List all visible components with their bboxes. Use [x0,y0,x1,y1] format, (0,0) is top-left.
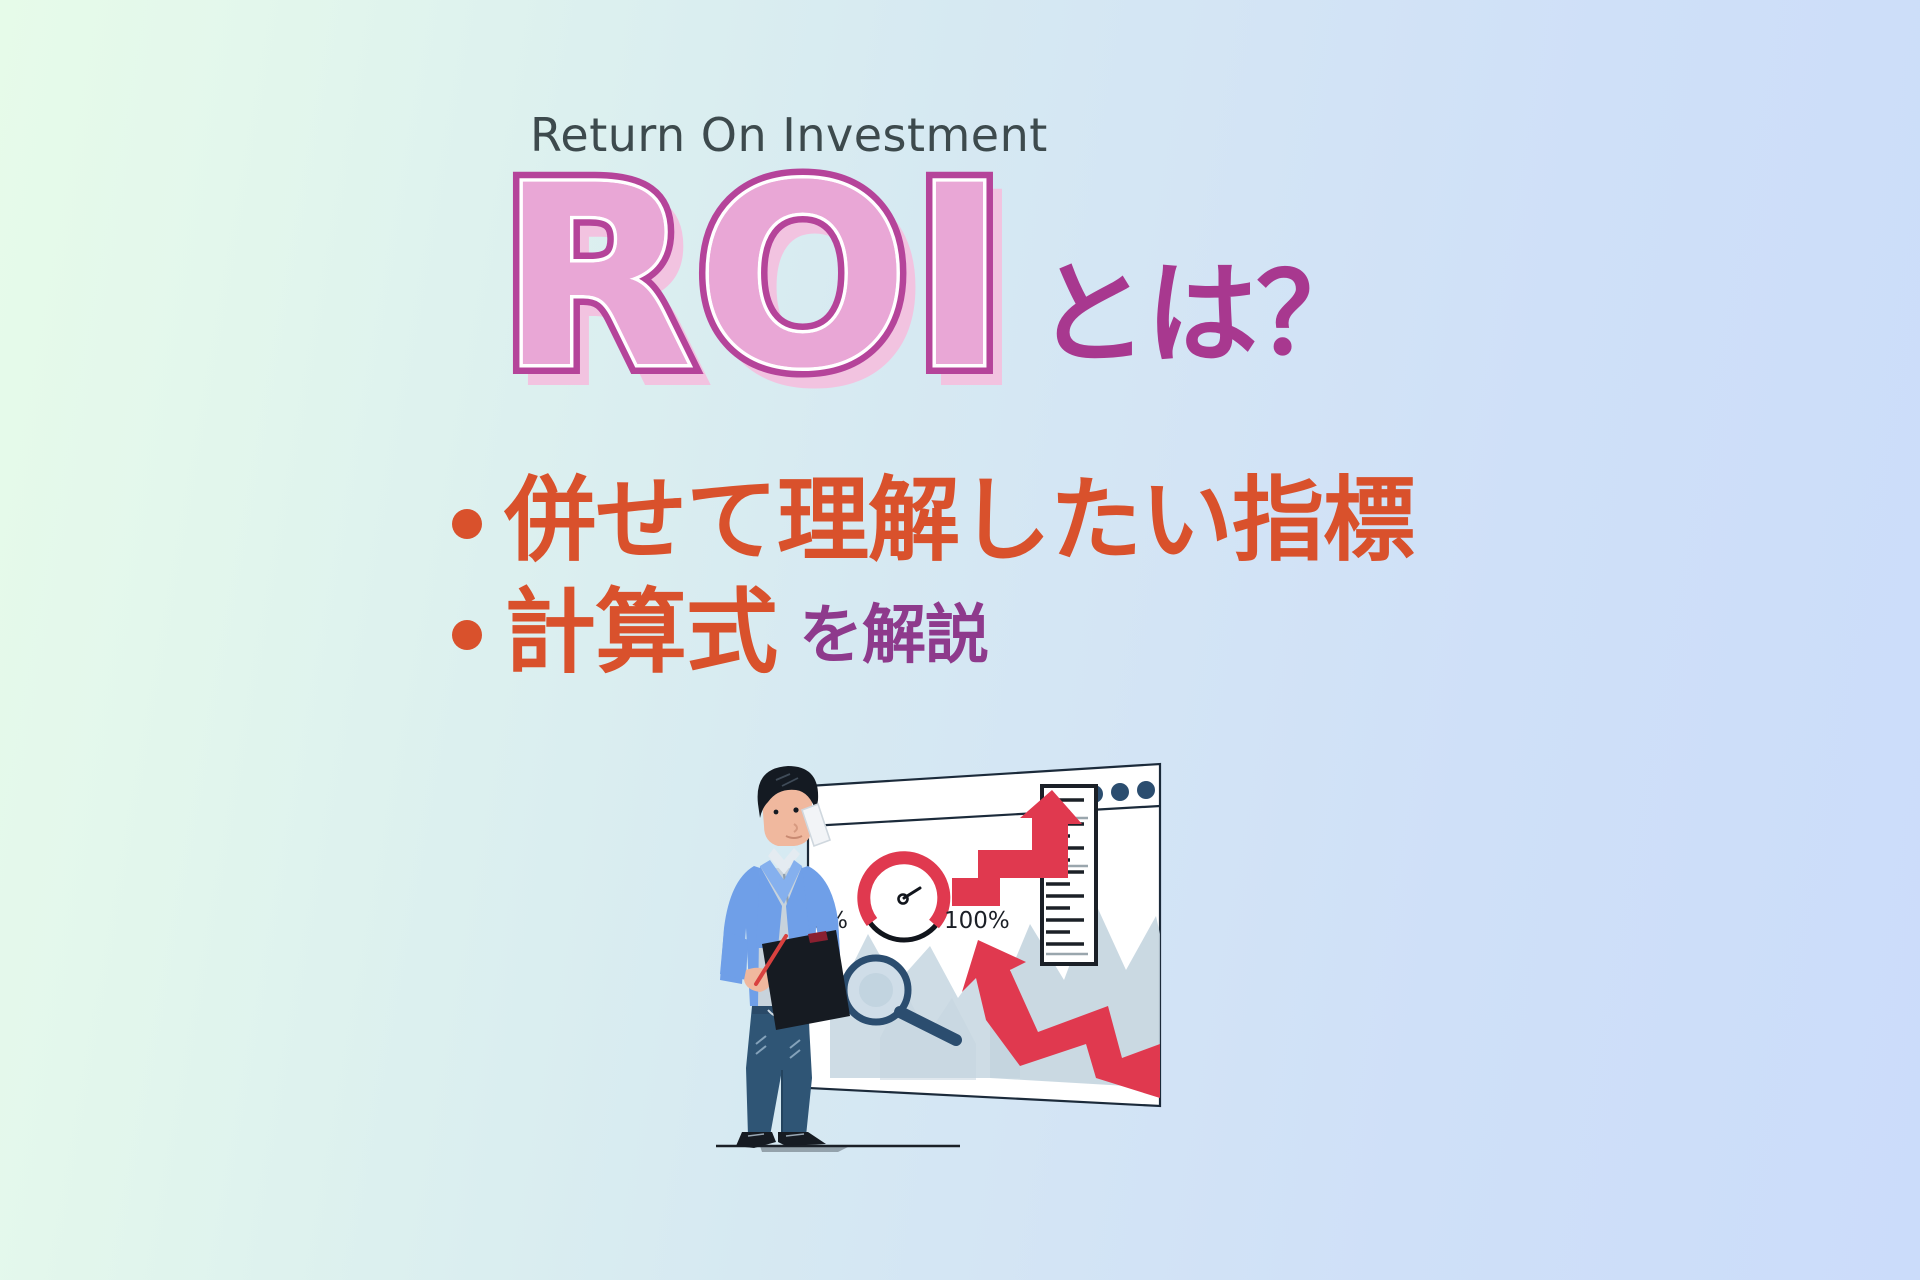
gauge-max-label: 100% [944,908,1010,934]
bullet-list: 併せて理解したい指標 計算式 を解説 [452,472,1414,695]
headline-suffix: とは？ [1036,224,1366,400]
list-item: 併せて理解したい指標 [452,472,1414,570]
bullet-dot-icon [452,509,482,539]
bullet-text-suffix: を解説 [799,584,988,680]
bullet-dot-icon [452,620,482,650]
roi-title-fill: ROI [500,170,1010,385]
bullet-text: 計算式 [504,584,777,682]
roi-title: ROI ROI ROI ROI ROI [500,170,1010,400]
illustration-businessman-dashboard: 0% 100% [690,748,1250,1178]
bullet-text: 併せて理解したい指標 [504,472,1414,570]
poster-canvas: Return On Investment ROI ROI ROI ROI ROI… [0,0,1920,1280]
headline: ROI ROI ROI ROI ROI とは？ [500,170,1366,400]
list-item: 計算式 を解説 [452,584,1414,682]
